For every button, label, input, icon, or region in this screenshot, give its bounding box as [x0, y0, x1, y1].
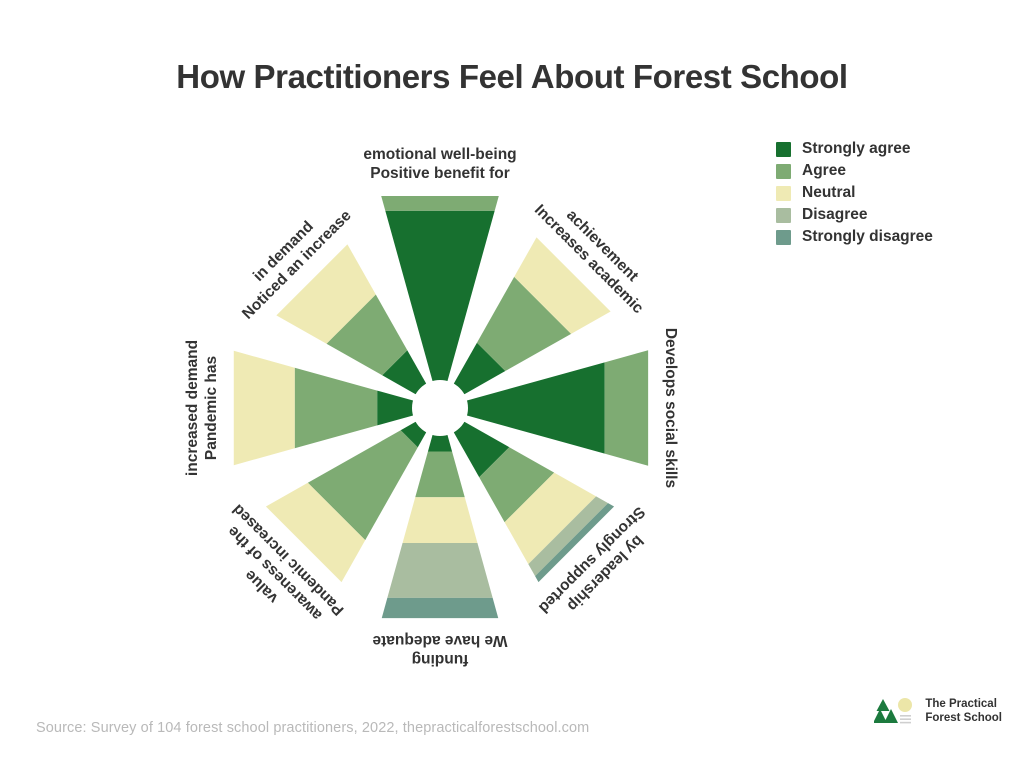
- spoke-segment: [234, 351, 295, 465]
- legend-item-label: Neutral: [802, 184, 855, 202]
- spoke-segment: [605, 350, 648, 465]
- legend: Strongly agree Agree Neutral Disagree St…: [776, 138, 1006, 248]
- spoke-label: Pandemic has: [203, 356, 220, 460]
- logo-rule: [900, 722, 911, 724]
- spoke-label: Positive benefit for: [370, 165, 510, 182]
- forest-school-logo-icon: [874, 696, 918, 726]
- spoke-segment: [428, 435, 452, 451]
- spoke-segment: [382, 598, 499, 618]
- tree-icon: [877, 699, 890, 711]
- spoke-segment: [381, 196, 499, 211]
- legend-item-label: Agree: [802, 162, 846, 180]
- source-note: Source: Survey of 104 forest school prac…: [36, 720, 589, 736]
- legend-item-label: Strongly disagree: [802, 228, 933, 246]
- brand-line-1: The Practical: [925, 697, 1002, 711]
- spoke-segment: [387, 543, 492, 598]
- legend-item-label: Disagree: [802, 206, 867, 224]
- spoke-segment: [377, 391, 413, 426]
- sun-icon: [898, 698, 912, 712]
- legend-swatch-icon: [776, 208, 791, 223]
- legend-item-disagree[interactable]: Disagree: [776, 204, 1006, 226]
- legend-item-label: Strongly agree: [802, 140, 911, 158]
- spoke-segment: [295, 368, 377, 449]
- legend-swatch-icon: [776, 186, 791, 201]
- legend-swatch-icon: [776, 230, 791, 245]
- logo-rule: [900, 715, 911, 717]
- spoke-label: increased demand: [184, 340, 201, 476]
- spoke-label: Develops social skills: [662, 328, 679, 488]
- page-title: How Practitioners Feel About Forest Scho…: [0, 58, 1024, 96]
- brand-name: The Practical Forest School: [925, 697, 1002, 725]
- spoke-label: emotional well-being: [363, 146, 516, 163]
- radial-stacked-bar-chart: Positive benefit foremotional well-being…: [120, 120, 760, 680]
- spoke-segment: [415, 451, 465, 497]
- legend-item-strongly-disagree[interactable]: Strongly disagree: [776, 226, 1006, 248]
- brand-line-2: Forest School: [925, 711, 1002, 725]
- spoke-segment: [403, 497, 478, 543]
- brand-logo: The Practical Forest School: [874, 696, 1002, 726]
- logo-rule: [900, 718, 911, 720]
- spoke-label: funding: [412, 651, 469, 668]
- spoke-label: We have adequate: [372, 632, 507, 649]
- chart-center-hub: [412, 380, 468, 436]
- legend-item-neutral[interactable]: Neutral: [776, 182, 1006, 204]
- legend-item-strongly-agree[interactable]: Strongly agree: [776, 138, 1006, 160]
- legend-swatch-icon: [776, 142, 791, 157]
- legend-item-agree[interactable]: Agree: [776, 160, 1006, 182]
- tree-icon: [884, 709, 898, 723]
- legend-swatch-icon: [776, 164, 791, 179]
